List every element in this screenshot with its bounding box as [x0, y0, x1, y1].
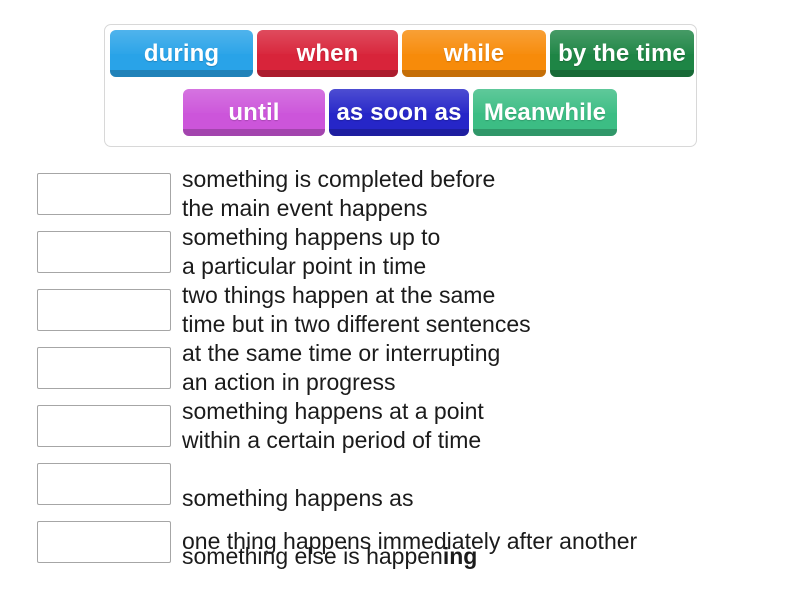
drop-zone-7[interactable]: [37, 521, 171, 563]
match-row: at the same time or interrupting an acti…: [0, 337, 800, 395]
match-up-activity: during when while by the time until as s…: [0, 0, 800, 600]
tile-until[interactable]: until: [183, 89, 325, 136]
tile-while-label: while: [444, 42, 505, 66]
match-list: something is completed before the main e…: [0, 163, 800, 569]
drop-zone-2[interactable]: [37, 231, 171, 273]
tile-row-2: until as soon as Meanwhile: [183, 89, 621, 136]
tile-when[interactable]: when: [257, 30, 398, 77]
match-text-7: one thing happens immediately after anot…: [182, 511, 800, 556]
match-text-4: at the same time or interrupting an acti…: [182, 337, 800, 397]
tile-by-the-time[interactable]: by the time: [550, 30, 694, 77]
drop-zone-5[interactable]: [37, 405, 171, 447]
match-text-2: something happens up to a particular poi…: [182, 221, 800, 281]
match-text-3: two things happen at the same time but i…: [182, 279, 800, 339]
tile-as-soon-as[interactable]: as soon as: [329, 89, 469, 136]
match-row: something happens as something else is h…: [0, 453, 800, 511]
tile-meanwhile[interactable]: Meanwhile: [473, 89, 617, 136]
tile-when-label: when: [297, 42, 359, 66]
tile-during-label: during: [144, 42, 219, 66]
match-text-1: something is completed before the main e…: [182, 163, 800, 223]
match-text-6-line-1: something happens as: [182, 485, 413, 511]
match-row: something happens up to a particular poi…: [0, 221, 800, 279]
match-row: something is completed before the main e…: [0, 163, 800, 221]
tile-as-soon-as-label: as soon as: [336, 101, 461, 125]
tile-until-label: until: [228, 101, 279, 125]
tile-tray: during when while by the time until as s…: [104, 24, 697, 147]
drop-zone-6[interactable]: [37, 463, 171, 505]
tile-by-the-time-label: by the time: [558, 42, 686, 66]
match-row: one thing happens immediately after anot…: [0, 511, 800, 569]
drop-zone-3[interactable]: [37, 289, 171, 331]
tile-while[interactable]: while: [402, 30, 546, 77]
drop-zone-1[interactable]: [37, 173, 171, 215]
match-text-5: something happens at a point within a ce…: [182, 395, 800, 455]
tile-during[interactable]: during: [110, 30, 253, 77]
tile-meanwhile-label: Meanwhile: [484, 101, 606, 125]
match-row: something happens at a point within a ce…: [0, 395, 800, 453]
tile-row-1: during when while by the time: [110, 30, 698, 77]
drop-zone-4[interactable]: [37, 347, 171, 389]
match-row: two things happen at the same time but i…: [0, 279, 800, 337]
